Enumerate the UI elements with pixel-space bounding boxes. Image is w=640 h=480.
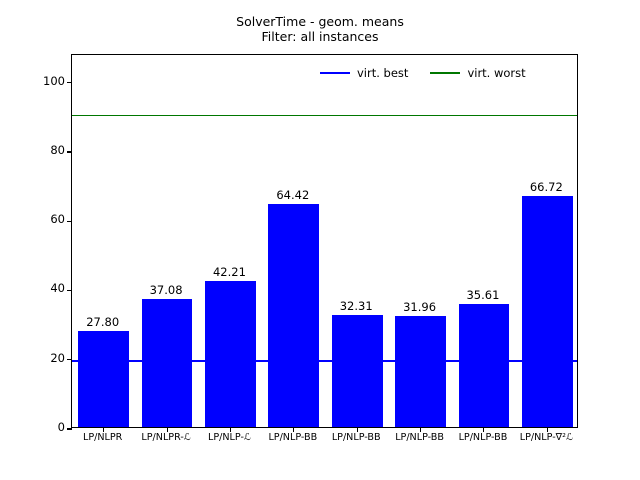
bar (205, 281, 256, 427)
y-axis-tick-label: 40 (5, 283, 65, 295)
x-axis-tick-label: LP/NLPR (83, 432, 122, 443)
bar-value-label: 42.21 (213, 265, 246, 279)
y-axis-tick-label: 60 (5, 214, 65, 226)
chart-title-line-1: SolverTime - geom. means (0, 14, 640, 29)
x-axis-tick-label: LP/NLPR-ℒ (141, 432, 190, 443)
x-axis-tick-label: LP/NLP-ℒ (208, 432, 251, 443)
x-axis-tick-label: LP/NLP-BB (459, 432, 508, 443)
plot-area (72, 55, 577, 427)
y-axis-tick-label: 100 (5, 76, 65, 88)
chart-legend: virt. best virt. worst (314, 63, 532, 83)
bar-value-label: 31.96 (403, 300, 436, 314)
legend-line-virt-worst (430, 72, 460, 74)
plot-axes: virt. best virt. worst (71, 54, 578, 428)
reference-line-virt-worst (72, 115, 577, 117)
chart-title: SolverTime - geom. means Filter: all ins… (0, 14, 640, 44)
y-axis-tick (67, 221, 72, 222)
bar-value-label: 66.72 (530, 180, 563, 194)
legend-entry-virt-best: virt. best (320, 66, 408, 80)
y-axis-tick (67, 428, 72, 429)
y-axis-tick (67, 359, 72, 360)
reference-line-virt-best (72, 360, 577, 362)
y-axis-tick (67, 82, 72, 83)
legend-line-virt-best (320, 72, 350, 74)
y-axis-tick-label: 0 (5, 422, 65, 434)
bar (395, 316, 446, 427)
legend-label-virt-worst: virt. worst (467, 66, 525, 80)
y-axis-tick-label: 80 (5, 145, 65, 157)
y-axis-tick (67, 151, 72, 152)
bar (142, 299, 193, 427)
x-axis-tick-label: LP/NLP-∇²ℒ (520, 432, 573, 443)
bar-value-label: 37.08 (150, 283, 183, 297)
x-axis-tick-label: LP/NLP-BB (268, 432, 317, 443)
bar-value-label: 27.80 (86, 315, 119, 329)
bar-value-label: 35.61 (466, 288, 499, 302)
bar (332, 315, 383, 427)
bar (268, 204, 319, 427)
x-axis-tick-label: LP/NLP-BB (395, 432, 444, 443)
bar (78, 331, 129, 427)
chart-figure: SolverTime - geom. means Filter: all ins… (0, 0, 640, 480)
chart-title-line-2: Filter: all instances (0, 29, 640, 44)
bar (522, 196, 573, 427)
legend-label-virt-best: virt. best (357, 66, 408, 80)
bar-value-label: 64.42 (276, 188, 309, 202)
y-axis-tick-label: 20 (5, 353, 65, 365)
bar (459, 304, 510, 427)
x-axis-tick-label: LP/NLP-BB (332, 432, 381, 443)
bar-value-label: 32.31 (340, 299, 373, 313)
legend-entry-virt-worst: virt. worst (430, 66, 525, 80)
y-axis-tick (67, 290, 72, 291)
